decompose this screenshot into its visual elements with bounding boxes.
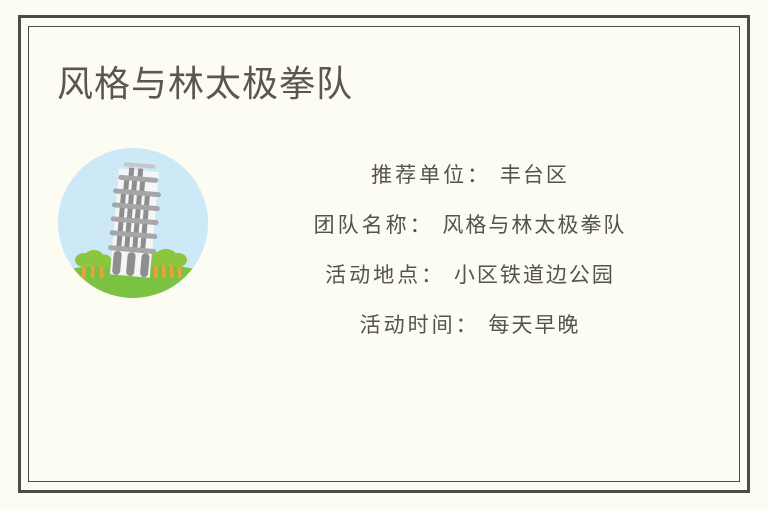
info-value: 风格与林太极拳队 (442, 213, 626, 237)
info-line-team-name: 团队名称： 风格与林太极拳队 (230, 200, 710, 250)
page-title: 风格与林太极拳队 (57, 62, 353, 106)
landmark-badge (58, 148, 208, 298)
leaning-tower-of-pisa-icon (58, 148, 208, 298)
info-line-activity-location: 活动地点： 小区铁道边公园 (230, 250, 710, 300)
info-line-activity-time: 活动时间： 每天早晚 (230, 300, 710, 350)
info-value: 小区铁道边公园 (454, 263, 615, 287)
info-label: 活动地点： (325, 263, 445, 287)
info-label: 推荐单位： (371, 163, 491, 187)
content-row: 推荐单位： 丰台区 团队名称： 风格与林太极拳队 活动地点： 小区铁道边公园 活… (40, 140, 730, 370)
info-value: 每天早晚 (488, 313, 580, 337)
info-label: 团队名称： (314, 213, 434, 237)
info-value: 丰台区 (500, 163, 569, 187)
info-line-recommending-unit: 推荐单位： 丰台区 (230, 150, 710, 200)
info-label: 活动时间： (360, 313, 480, 337)
poster-card: 风格与林太极拳队 (0, 0, 768, 510)
info-block: 推荐单位： 丰台区 团队名称： 风格与林太极拳队 活动地点： 小区铁道边公园 活… (230, 150, 710, 350)
